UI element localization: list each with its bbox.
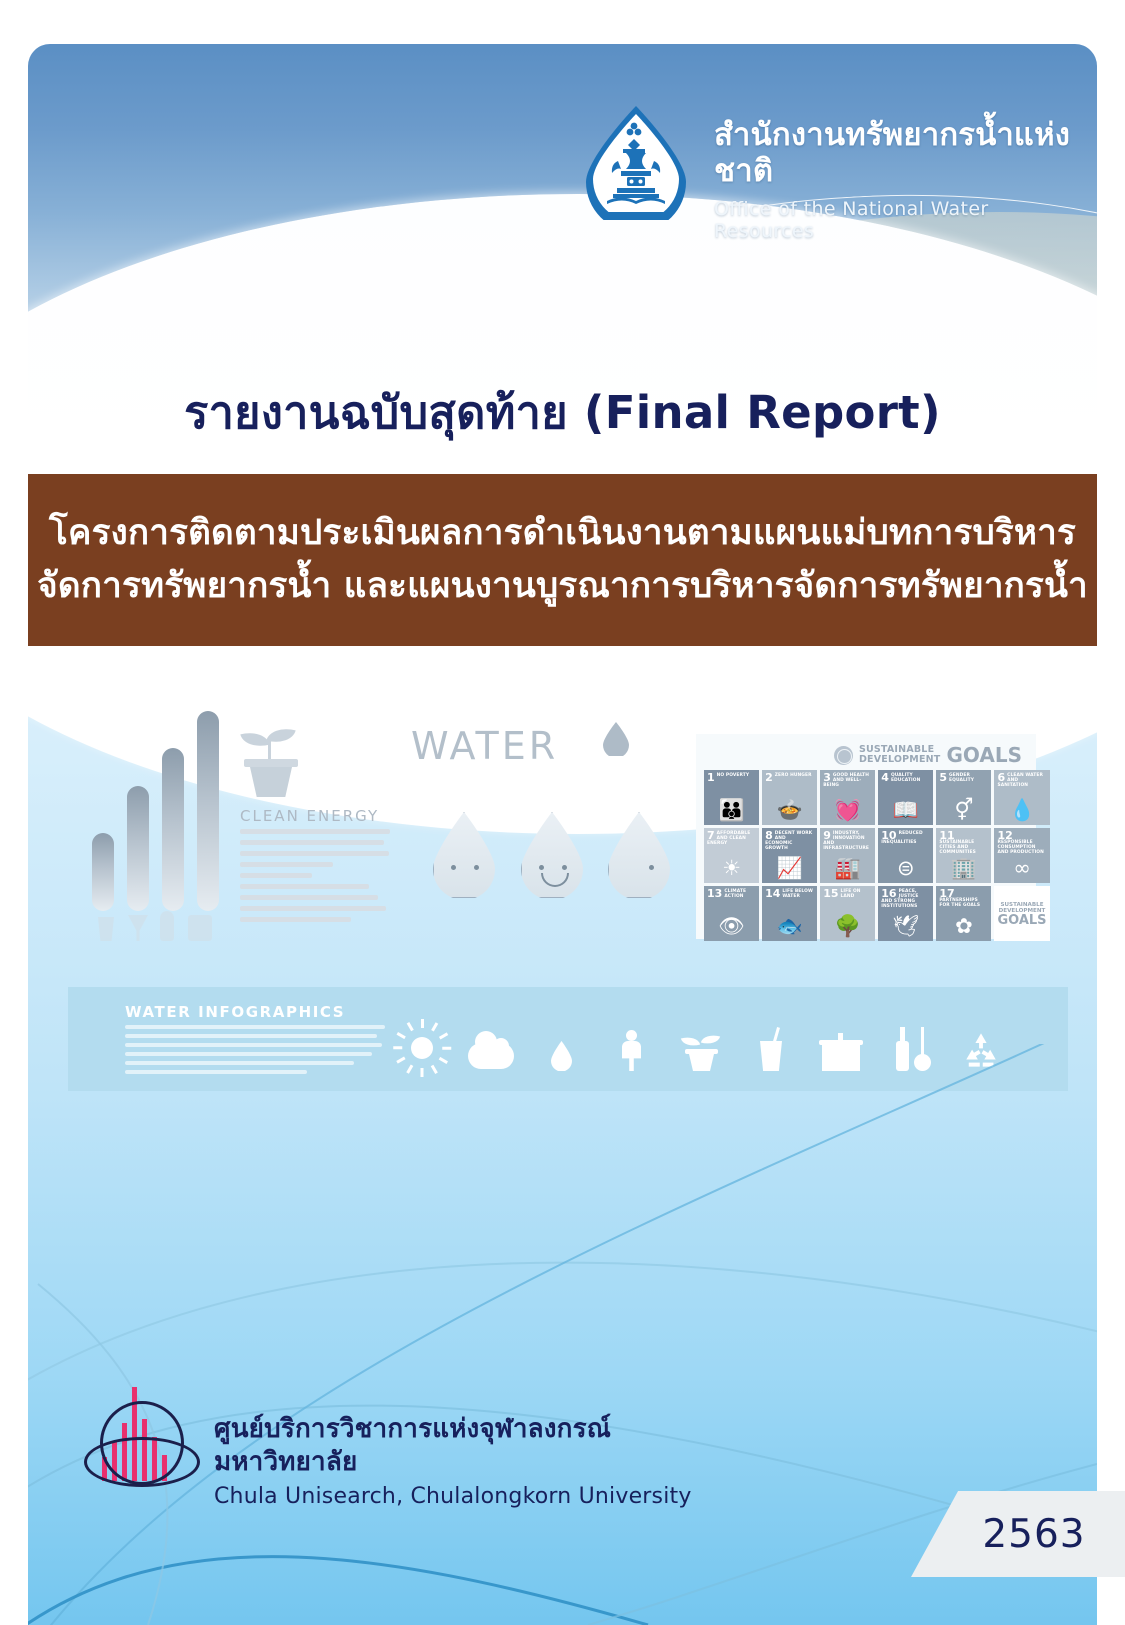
chula-unisearch-block: ศูนย์บริการวิชาการแห่งจุฬาลงกรณ์มหาวิทยา… xyxy=(76,1389,716,1519)
sdg-goal-4: 4QUALITY EDUCATION📖 xyxy=(878,770,933,825)
sdg-goal-14: 14LIFE BELOW WATER🐟 xyxy=(762,886,817,941)
logo-ellipse xyxy=(84,1437,200,1487)
eye-right xyxy=(649,865,654,870)
project-title-banner: โครงการติดตามประเมินผลการดำเนินงานตามแผน… xyxy=(28,474,1097,646)
sdg-goal-5: 5GENDER EQUALITY⚥ xyxy=(936,770,991,825)
sdg-goal-7: 7AFFORDABLE AND CLEAN ENERGY☀ xyxy=(704,828,759,883)
sdg-goal-number: 7 xyxy=(707,831,715,841)
sdg-goal-icon: ✿ xyxy=(936,916,991,937)
water-drop-character-2 xyxy=(521,812,585,898)
building-glyph-icon xyxy=(188,915,212,941)
sdg-goal-number: 5 xyxy=(939,773,947,783)
organization-text: สำนักงานทรัพยากรน้ำแห่งชาติ Office of th… xyxy=(714,102,1076,242)
sdg-goal-11: 11SUSTAINABLE CITIES AND COMMUNITIES🏢 xyxy=(936,828,991,883)
sdg-goal-icon: 🐟 xyxy=(762,916,817,937)
sdg-goal-number: 3 xyxy=(823,773,831,783)
bottle-glyph-icon xyxy=(160,911,174,941)
year-value: 2563 xyxy=(950,1512,1085,1557)
chula-unisearch-text: ศูนย์บริการวิชาการแห่งจุฬาลงกรณ์มหาวิทยา… xyxy=(214,1413,716,1509)
un-emblem-icon xyxy=(834,746,853,765)
bar-1 xyxy=(92,833,114,911)
tap-glyph-icon xyxy=(128,915,148,941)
pot-rim xyxy=(244,759,298,767)
water-label: WATER xyxy=(411,724,558,768)
sdg-goal-10: 10REDUCED INEQUALITIES⊜ xyxy=(878,828,933,883)
sdg-goal-number: 9 xyxy=(823,831,831,841)
water-drop-character-3 xyxy=(608,812,672,898)
sdg-goal-icon: ∞ xyxy=(994,858,1049,879)
cup-glyph-icon xyxy=(96,917,116,941)
eye-right xyxy=(562,865,567,870)
sdg-poster: SUSTAINABLE DEVELOPMENT GOALS 1NO POVERT… xyxy=(696,734,1036,939)
sdg-goal-17: 17PARTNERSHIPS FOR THE GOALS✿ xyxy=(936,886,991,941)
sdg-goal-number: 1 xyxy=(707,773,715,783)
clean-energy-infographic: CLEAN ENERGY xyxy=(88,711,388,941)
project-title-line-1: โครงการติดตามประเมินผลการดำเนินงานตามแผน… xyxy=(49,511,1076,556)
clean-energy-label: CLEAN ENERGY xyxy=(240,807,379,825)
sdg-goal-icon: 📈 xyxy=(762,858,817,879)
sdg-goal-number: 8 xyxy=(765,831,773,841)
sdg-goal-icon: 🏭 xyxy=(820,858,875,879)
sdg-goal-number: 14 xyxy=(765,889,780,899)
sdg-goal-number: 6 xyxy=(997,773,1005,783)
sdg-goal-number: 16 xyxy=(881,889,896,899)
sdg-goal-icon: 🍲 xyxy=(762,800,817,821)
bar-chart-graphic xyxy=(92,711,222,911)
eye-left xyxy=(451,865,456,870)
organization-header: สำนักงานทรัพยากรน้ำแห่งชาติ Office of th… xyxy=(576,102,1076,222)
chula-name-english: Chula Unisearch, Chulalongkorn Universit… xyxy=(214,1484,716,1509)
sdg-goal-6: 6CLEAN WATER AND SANITATION💧 xyxy=(994,770,1049,825)
bar-3 xyxy=(162,748,184,911)
water-drop-icon xyxy=(603,722,629,756)
page-title: รายงานฉบับสุดท้าย (Final Report) xyxy=(28,376,1097,448)
report-cover-page: สำนักงานทรัพยากรน้ำแห่งชาติ Office of th… xyxy=(0,0,1125,1625)
smile xyxy=(541,873,569,887)
org-name-thai: สำนักงานทรัพยากรน้ำแห่งชาติ xyxy=(714,118,1076,189)
sdg-goal-2: 2ZERO HUNGER🍲 xyxy=(762,770,817,825)
sdg-goal-icon: 💧 xyxy=(994,800,1049,821)
sdg-goal-icon: 📖 xyxy=(878,800,933,821)
org-name-english: Office of the National Water Resources xyxy=(714,198,1076,242)
sdg-goal-13: 13CLIMATE ACTION👁 xyxy=(704,886,759,941)
sdg-goal-16: 16PEACE, JUSTICE AND STRONG INSTITUTIONS… xyxy=(878,886,933,941)
clean-energy-small-icons xyxy=(94,905,234,941)
pot-body xyxy=(250,767,292,797)
sdg-goal-number: 13 xyxy=(707,889,722,899)
chula-name-thai: ศูนย์บริการวิชาการแห่งจุฬาลงกรณ์มหาวิทยา… xyxy=(214,1413,716,1478)
sdg-goal-icon: 🏢 xyxy=(936,858,991,879)
sdg-goal-icon: 🕊 xyxy=(878,916,933,937)
sdg-footer-logo: SUSTAINABLEDEVELOPMENTGOALS xyxy=(994,886,1049,941)
chula-unisearch-logo-icon xyxy=(84,1393,204,1505)
water-drop-character-1 xyxy=(433,812,497,898)
sdg-goal-9: 9INDUSTRY, INNOVATION AND INFRASTRUCTURE… xyxy=(820,828,875,883)
bar-4 xyxy=(197,711,219,911)
sdg-header: SUSTAINABLE DEVELOPMENT GOALS xyxy=(704,740,1028,770)
eye-right xyxy=(474,865,479,870)
water-infographics-title: WATER INFOGRAPHICS xyxy=(125,1003,345,1021)
sdg-goal-icon: 💓 xyxy=(820,800,875,821)
onwr-crest-icon xyxy=(593,114,679,212)
bar-2 xyxy=(127,786,149,911)
sdg-goal-3: 3GOOD HEALTH AND WELL-BEING💓 xyxy=(820,770,875,825)
sdg-goal-icon: ⚥ xyxy=(936,800,991,821)
sdg-goal-number: 2 xyxy=(765,773,773,783)
sdg-goal-icon: 🌳 xyxy=(820,916,875,937)
sdg-goal-icon: 👁 xyxy=(704,916,759,937)
plant-pot-icon xyxy=(240,717,302,797)
sdg-goal-grid: 1NO POVERTY👪2ZERO HUNGER🍲3GOOD HEALTH AN… xyxy=(704,770,1028,941)
sdg-goal-1: 1NO POVERTY👪 xyxy=(704,770,759,825)
sdg-goal-15: 15LIFE ON LAND🌳 xyxy=(820,886,875,941)
sdg-goal-icon: 👪 xyxy=(704,800,759,821)
project-title-line-2: จัดการทรัพยากรน้ำ และแผนงานบูรณาการบริหา… xyxy=(37,564,1088,609)
sdg-header-goals: GOALS xyxy=(946,743,1022,767)
sdg-footer-line-3: GOALS xyxy=(997,914,1046,928)
cover-card: สำนักงานทรัพยากรน้ำแห่งชาติ Office of th… xyxy=(28,44,1097,1625)
onwr-water-drop-emblem-icon xyxy=(576,102,696,230)
sdg-goal-icon: ⊜ xyxy=(878,858,933,879)
leaf-left xyxy=(240,728,269,751)
eye-left xyxy=(539,865,544,870)
water-infographic: WATER xyxy=(403,694,693,914)
sdg-goal-8: 8DECENT WORK AND ECONOMIC GROWTH📈 xyxy=(762,828,817,883)
sdg-header-line-2: DEVELOPMENT xyxy=(859,755,941,765)
sdg-goal-icon: ☀ xyxy=(704,858,759,879)
sdg-goal-12: 12RESPONSIBLE CONSUMPTION AND PRODUCTION… xyxy=(994,828,1049,883)
sdg-goal-number: 4 xyxy=(881,773,889,783)
clean-energy-placeholder-text xyxy=(240,829,390,928)
sdg-goal-number: 15 xyxy=(823,889,838,899)
